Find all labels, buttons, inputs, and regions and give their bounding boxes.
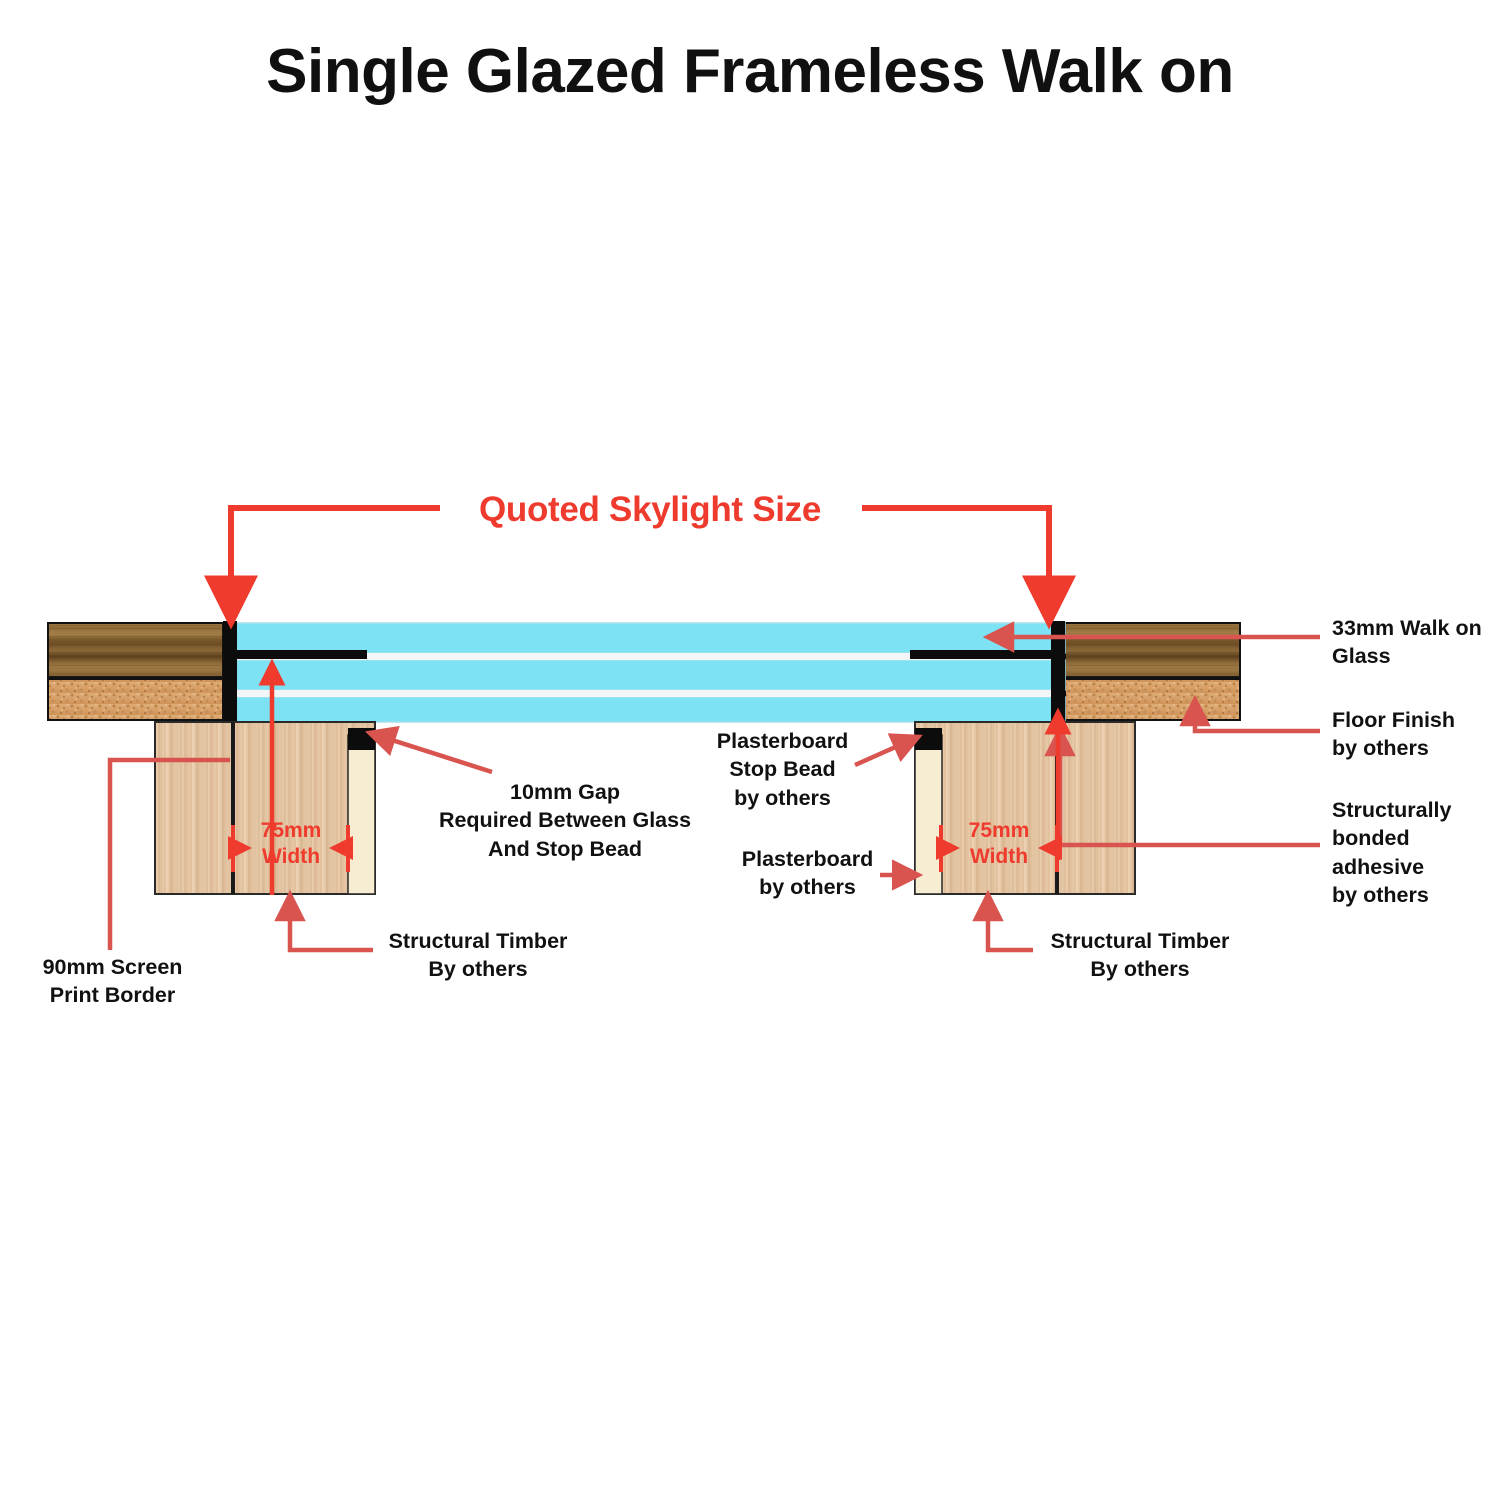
plasterboard-stop-bead-right	[915, 728, 942, 750]
gap-leader	[370, 733, 492, 772]
quoted-skylight-size-label: Quoted Skylight Size	[440, 490, 860, 530]
timber-right-leader-line	[988, 895, 1033, 950]
stop-bead-leader-line	[855, 737, 918, 765]
label-plasterboard: Plasterboard by others	[735, 845, 880, 902]
label-plasterboard-stop-bead: Plasterboard Stop Bead by others	[705, 727, 860, 812]
label-10mm-gap: 10mm Gap Required Between Glass And Stop…	[420, 778, 710, 863]
dim-right-unit: Width	[970, 845, 1028, 868]
glass-pane-bottom	[225, 697, 1065, 722]
cork-underlay-right	[1065, 679, 1240, 720]
label-90mm-screen-print-border: 90mm Screen Print Border	[30, 953, 195, 1010]
plasterboard-left	[348, 735, 375, 894]
structural-adhesive-left	[223, 621, 237, 722]
label-structural-timber-left: Structural Timber By others	[378, 927, 578, 984]
quoted-leader-left	[231, 508, 440, 616]
label-structurally-bonded-adhesive: Structurally bonded adhesive by others	[1332, 796, 1492, 910]
dim-label-left-75mm: 75mmWidth	[241, 818, 341, 871]
quoted-leader-right	[862, 508, 1049, 616]
glass-pane-middle	[225, 660, 1065, 690]
stop-bead-leader	[855, 737, 918, 765]
dim-label-right-75mm: 75mmWidth	[949, 818, 1049, 871]
label-floor-finish: Floor Finish by others	[1332, 706, 1492, 763]
timber-left-leader	[290, 895, 373, 950]
label-structural-timber-right: Structural Timber By others	[1040, 927, 1240, 984]
dim-right-value: 75mm	[969, 819, 1030, 842]
glass-interlayer-lower	[225, 690, 1065, 697]
gap-leader-line	[370, 733, 492, 772]
timber-right-leader	[988, 895, 1033, 950]
glass-pane-top	[225, 623, 1065, 653]
cork-underlay-left	[48, 679, 223, 720]
walk-on-glass-unit	[225, 623, 1065, 722]
screen-print-border-left	[232, 650, 367, 659]
screen-print-border-right	[910, 650, 1060, 659]
dim-left-value: 75mm	[261, 819, 322, 842]
diagram-page: Single Glazed Frameless Walk on	[0, 0, 1500, 1500]
dim-left-unit: Width	[262, 845, 320, 868]
left-floor-assembly	[48, 623, 223, 720]
label-33mm-walk-on-glass: 33mm Walk on Glass	[1332, 614, 1492, 671]
diagram-stage: Quoted Skylight Size 33mm Walk on Glass …	[0, 0, 1500, 1500]
timber-left-leader-line	[290, 895, 373, 950]
plasterboard-right	[915, 735, 942, 894]
